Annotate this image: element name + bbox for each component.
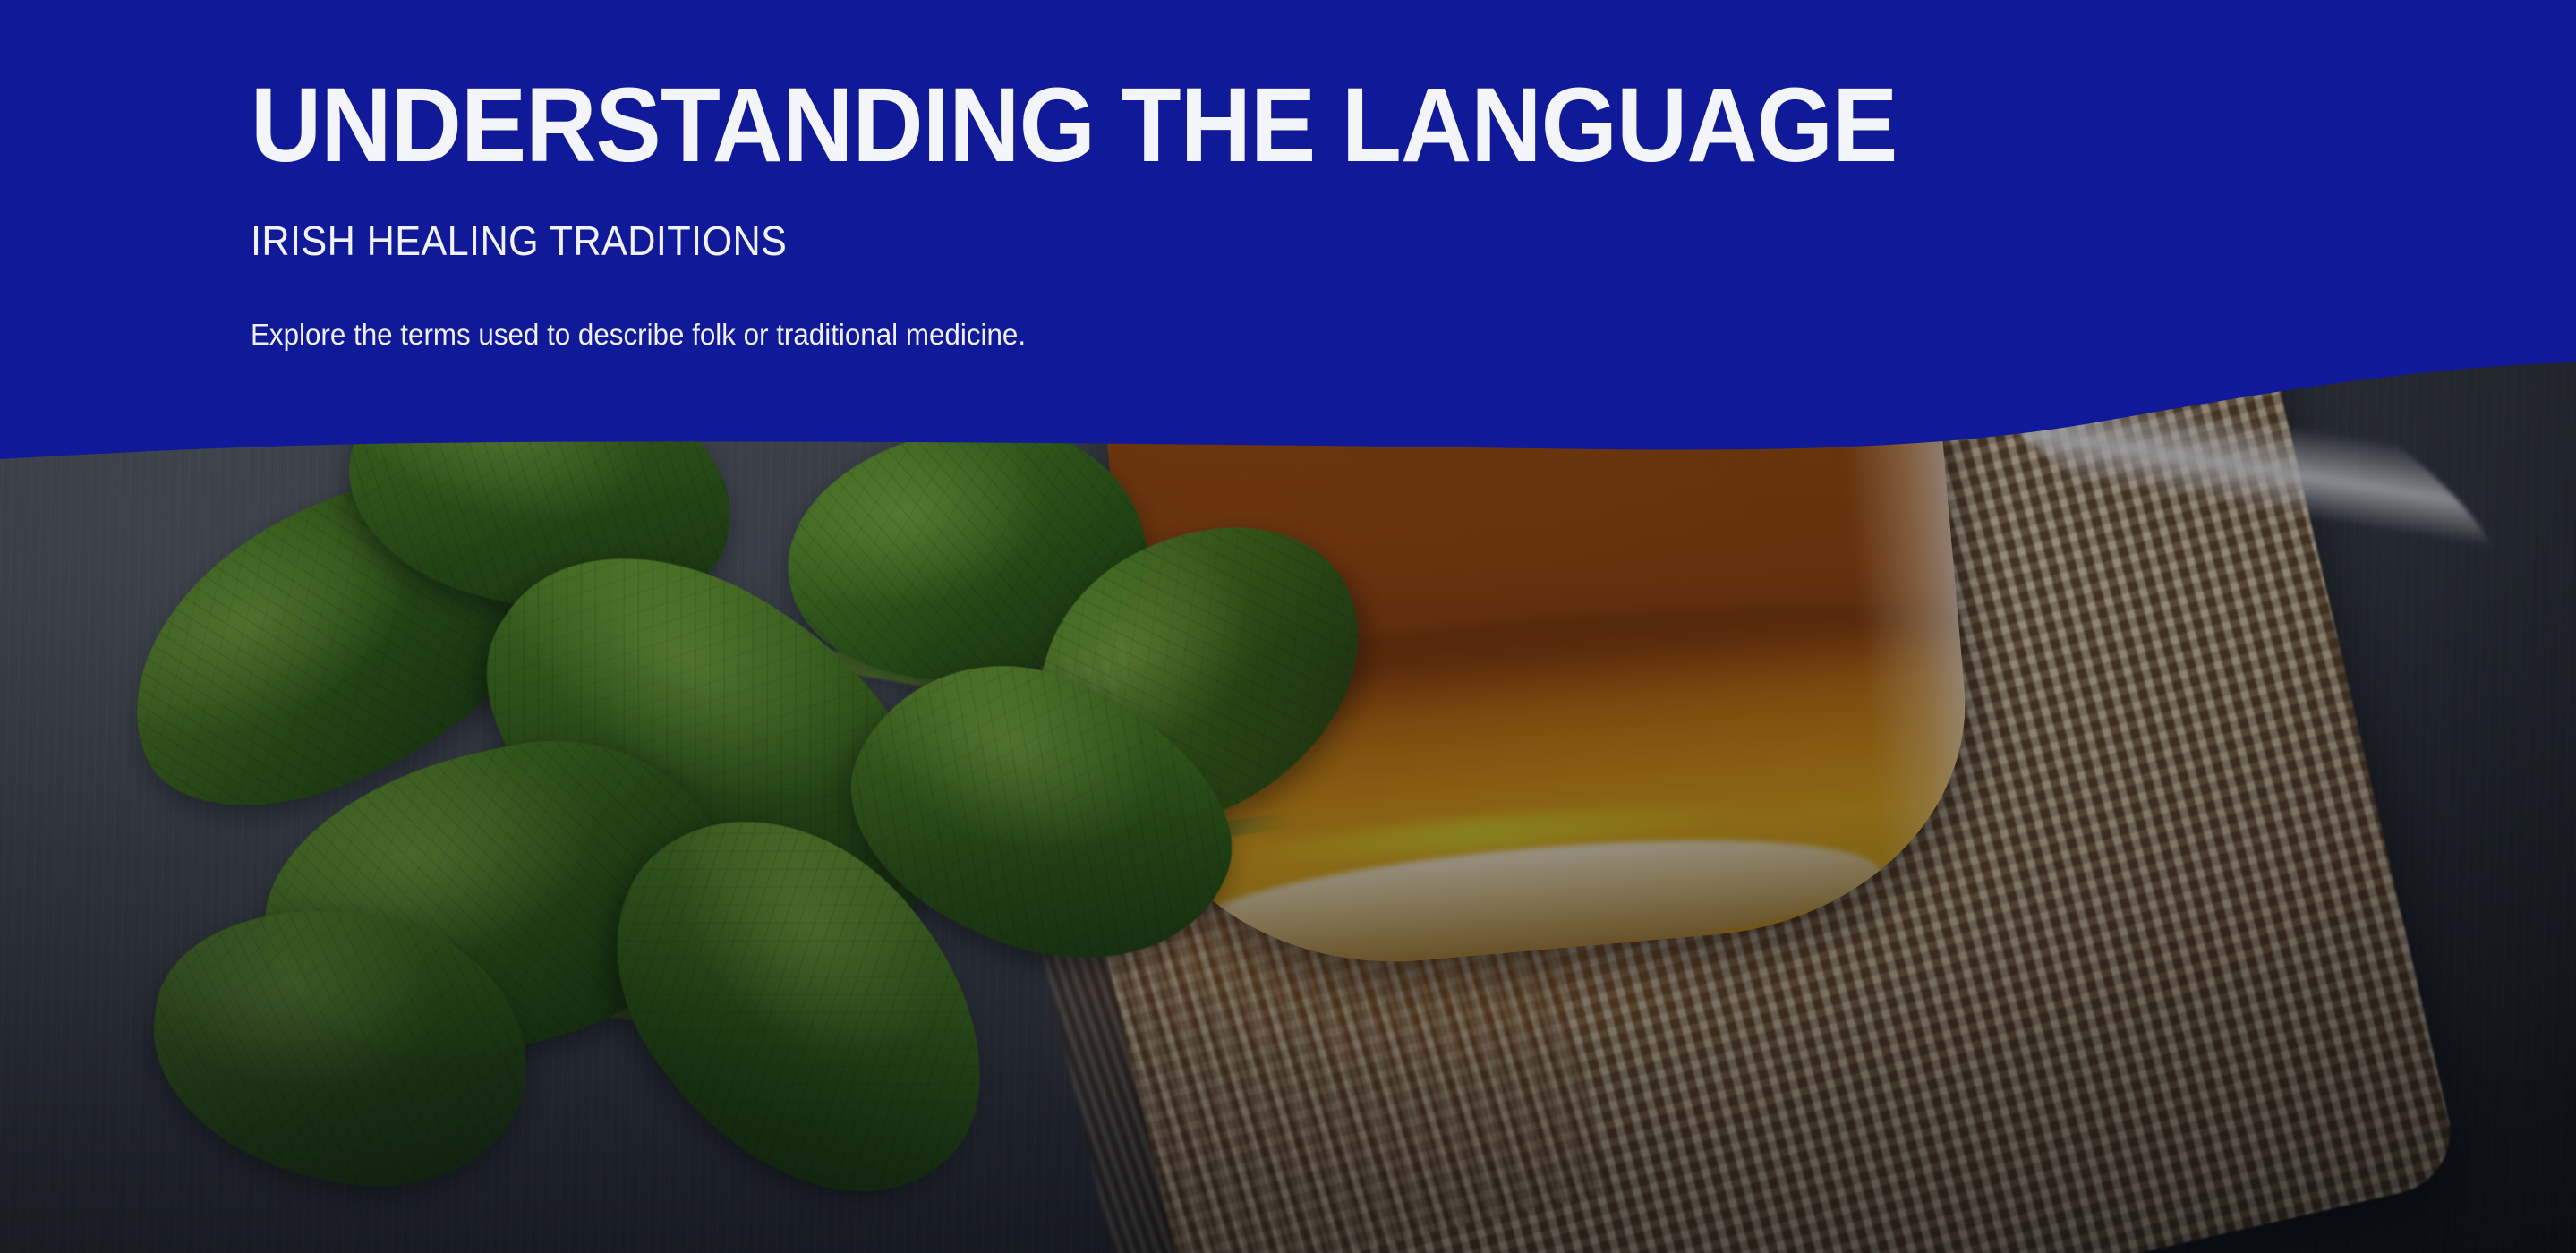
page-title: UNDERSTANDING THE LANGUAGE [251,72,2413,179]
page-description: Explore the terms used to describe folk … [251,316,2460,354]
hero-text-block: UNDERSTANDING THE LANGUAGE IRISH HEALING… [0,0,2576,501]
blue-wave-banner: UNDERSTANDING THE LANGUAGE IRISH HEALING… [0,0,2576,501]
page-subtitle: IRISH HEALING TRADITIONS [251,218,2436,264]
hero-banner: UNDERSTANDING THE LANGUAGE IRISH HEALING… [0,0,2576,1253]
